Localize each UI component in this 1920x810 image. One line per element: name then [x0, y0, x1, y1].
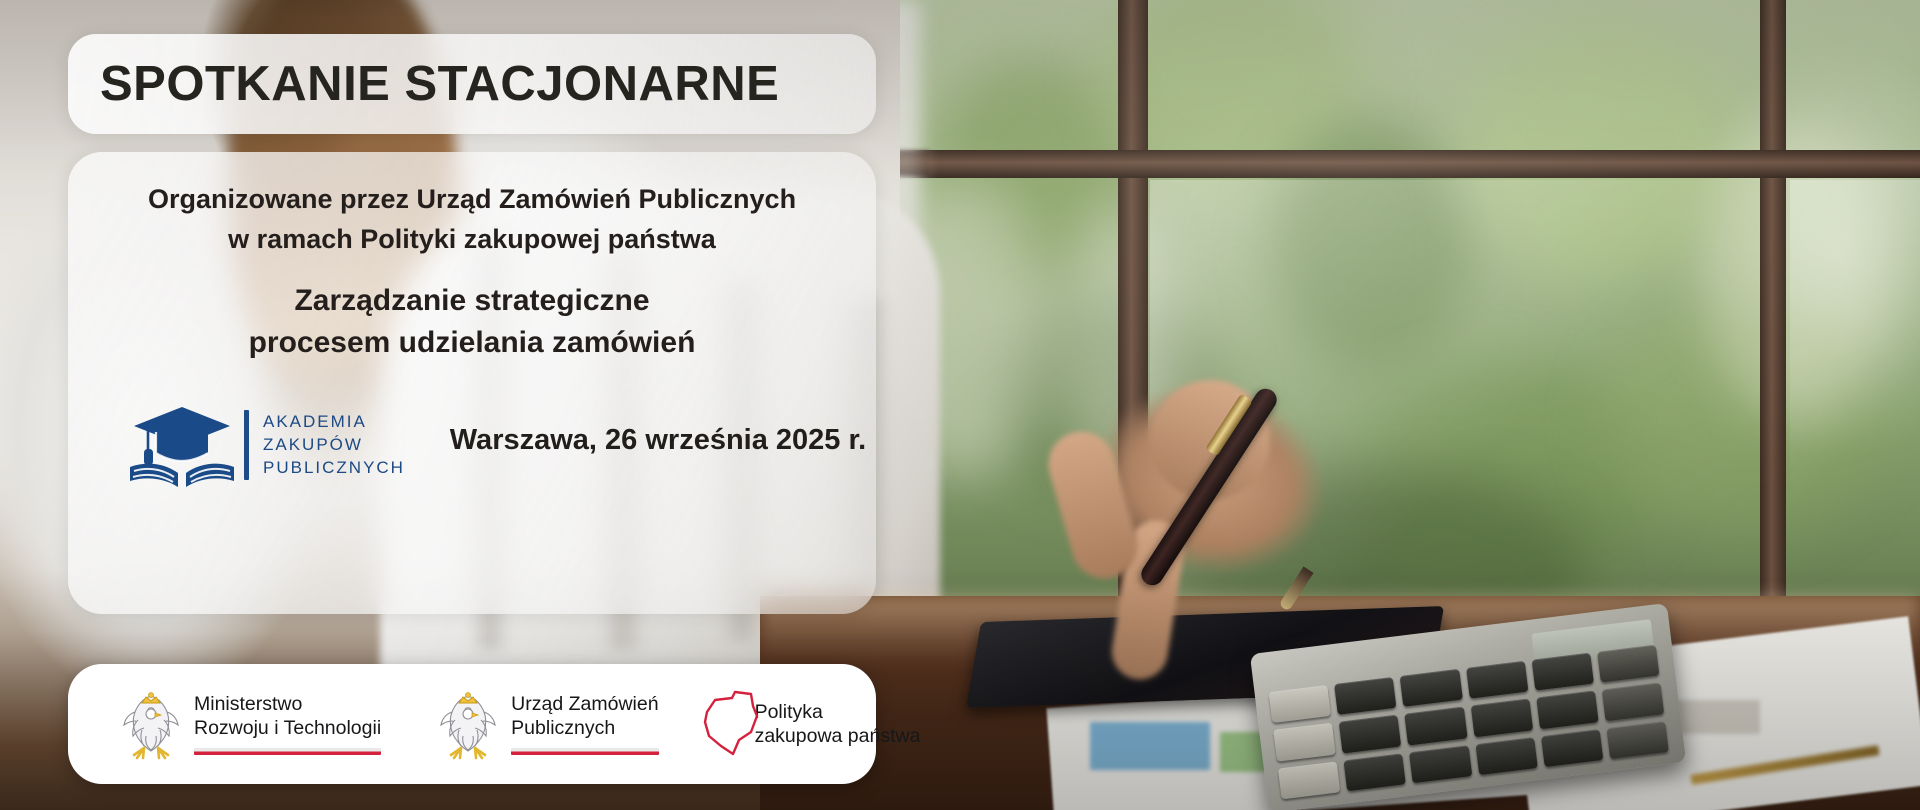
- footer-logo-uzp: Urząd Zamówień Publicznych: [437, 678, 658, 770]
- details-card: Organizowane przez Urząd Zamówień Public…: [68, 152, 876, 614]
- academy-logo-divider: [244, 410, 249, 480]
- uzp-line-1: Urząd Zamówień: [511, 693, 658, 717]
- organizer-line-1: Organizowane przez Urząd Zamówień Public…: [68, 184, 876, 215]
- polityka-line-2: zakupowa państwa: [755, 724, 921, 748]
- page-title: SPOTKANIE STACJONARNE: [100, 60, 779, 109]
- academy-word-3: PUBLICZNYCH: [263, 459, 405, 477]
- footer-logo-polityka-zakupowa: Polityka zakupowa państwa: [699, 678, 921, 770]
- ministry-line-2: Rozwoju i Technologii: [194, 717, 381, 741]
- organizer-line-2: w ramach Polityki zakupowej państwa: [68, 224, 876, 255]
- polish-eagle-coat-of-arms-icon: [437, 686, 499, 762]
- academy-logo-wordmark: AKADEMIA ZAKUPÓW PUBLICZNYCH: [263, 413, 405, 477]
- academy-word-1: AKADEMIA: [263, 413, 405, 431]
- footer-logo-bar: Ministerstwo Rozwoju i Technologii: [68, 664, 876, 784]
- poland-outline-icon: [699, 686, 761, 762]
- uzp-line-2: Publicznych: [511, 717, 658, 741]
- topic-line-2: procesem udzielania zamówień: [68, 326, 876, 360]
- topic-line-1: Zarządzanie strategiczne: [68, 284, 876, 318]
- ministry-line-1: Ministerstwo: [194, 693, 381, 717]
- uzp-wordmark: Urząd Zamówień Publicznych: [511, 693, 658, 755]
- academy-logo: AKADEMIA ZAKUPÓW PUBLICZNYCH: [126, 396, 446, 494]
- place-and-date: Warszawa, 26 września 2025 r.: [448, 424, 868, 457]
- title-card: SPOTKANIE STACJONARNE: [68, 34, 876, 134]
- ministry-wordmark: Ministerstwo Rozwoju i Technologii: [194, 693, 381, 755]
- polish-eagle-coat-of-arms-icon: [120, 686, 182, 762]
- ministry-red-rule: [194, 748, 381, 755]
- polityka-wordmark: Polityka zakupowa państwa: [755, 700, 921, 749]
- academy-word-2: ZAKUPÓW: [263, 436, 405, 454]
- footer-logo-ministry: Ministerstwo Rozwoju i Technologii: [120, 678, 381, 770]
- uzp-red-rule: [511, 748, 658, 755]
- polityka-line-1: Polityka: [755, 700, 921, 724]
- event-banner: SPOTKANIE STACJONARNE Organizowane przez…: [0, 0, 1920, 810]
- graduation-cap-over-open-book-icon: [126, 399, 238, 491]
